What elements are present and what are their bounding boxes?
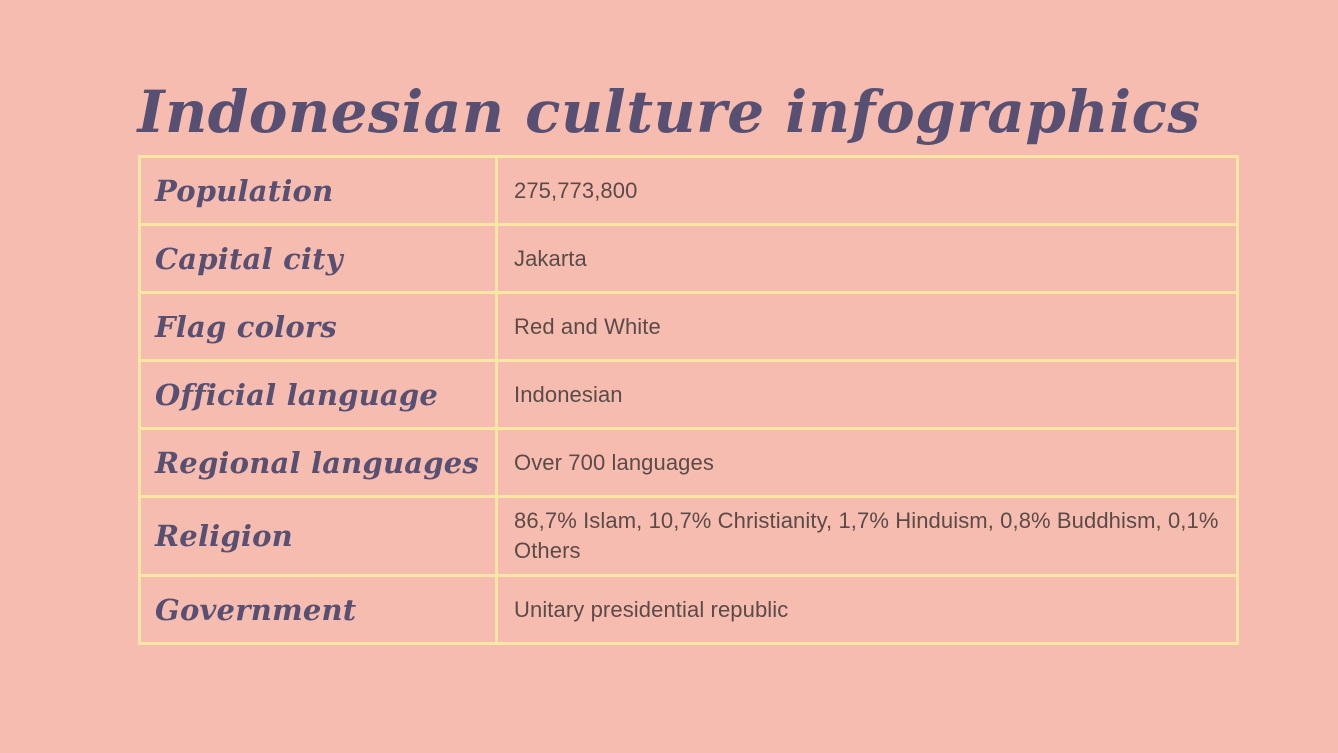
table-cell-value: Indonesian	[497, 361, 1238, 429]
fact-label: Government	[155, 593, 495, 627]
table-row: Official language Indonesian	[140, 361, 1238, 429]
table-cell-value: 86,7% Islam, 10,7% Christianity, 1,7% Hi…	[497, 497, 1238, 576]
table-row: Capital city Jakarta	[140, 225, 1238, 293]
table-row: Flag colors Red and White	[140, 293, 1238, 361]
table-cell-value: 275,773,800	[497, 157, 1238, 225]
fact-label: Religion	[155, 519, 495, 553]
fact-value: 86,7% Islam, 10,7% Christianity, 1,7% Hi…	[514, 506, 1236, 566]
table-cell-label: Capital city	[140, 225, 497, 293]
table-cell-label: Flag colors	[140, 293, 497, 361]
fact-value: Jakarta	[514, 244, 1236, 274]
fact-value: Red and White	[514, 312, 1236, 342]
fact-value: Over 700 languages	[514, 448, 1236, 478]
table-row: Government Unitary presidential republic	[140, 576, 1238, 644]
table-row: Population 275,773,800	[140, 157, 1238, 225]
table-cell-value: Over 700 languages	[497, 429, 1238, 497]
slide-canvas: Indonesian culture infographics Populati…	[0, 0, 1338, 753]
table-cell-label: Official language	[140, 361, 497, 429]
country-facts-table: Population 275,773,800 Capital city Jaka…	[138, 155, 1239, 645]
fact-value: Indonesian	[514, 380, 1236, 410]
table-cell-value: Jakarta	[497, 225, 1238, 293]
fact-value: Unitary presidential republic	[514, 595, 1236, 625]
table-cell-value: Unitary presidential republic	[497, 576, 1238, 644]
table-cell-value: Red and White	[497, 293, 1238, 361]
table-cell-label: Religion	[140, 497, 497, 576]
fact-label: Population	[155, 174, 495, 208]
page-title: Indonesian culture infographics	[0, 78, 1338, 146]
fact-label: Regional languages	[155, 446, 495, 480]
fact-label: Official language	[155, 378, 495, 412]
table-cell-label: Regional languages	[140, 429, 497, 497]
fact-value: 275,773,800	[514, 176, 1236, 206]
table-cell-label: Population	[140, 157, 497, 225]
fact-label: Flag colors	[155, 310, 495, 344]
table-cell-label: Government	[140, 576, 497, 644]
table-row: Religion 86,7% Islam, 10,7% Christianity…	[140, 497, 1238, 576]
fact-label: Capital city	[155, 242, 495, 276]
table-row: Regional languages Over 700 languages	[140, 429, 1238, 497]
